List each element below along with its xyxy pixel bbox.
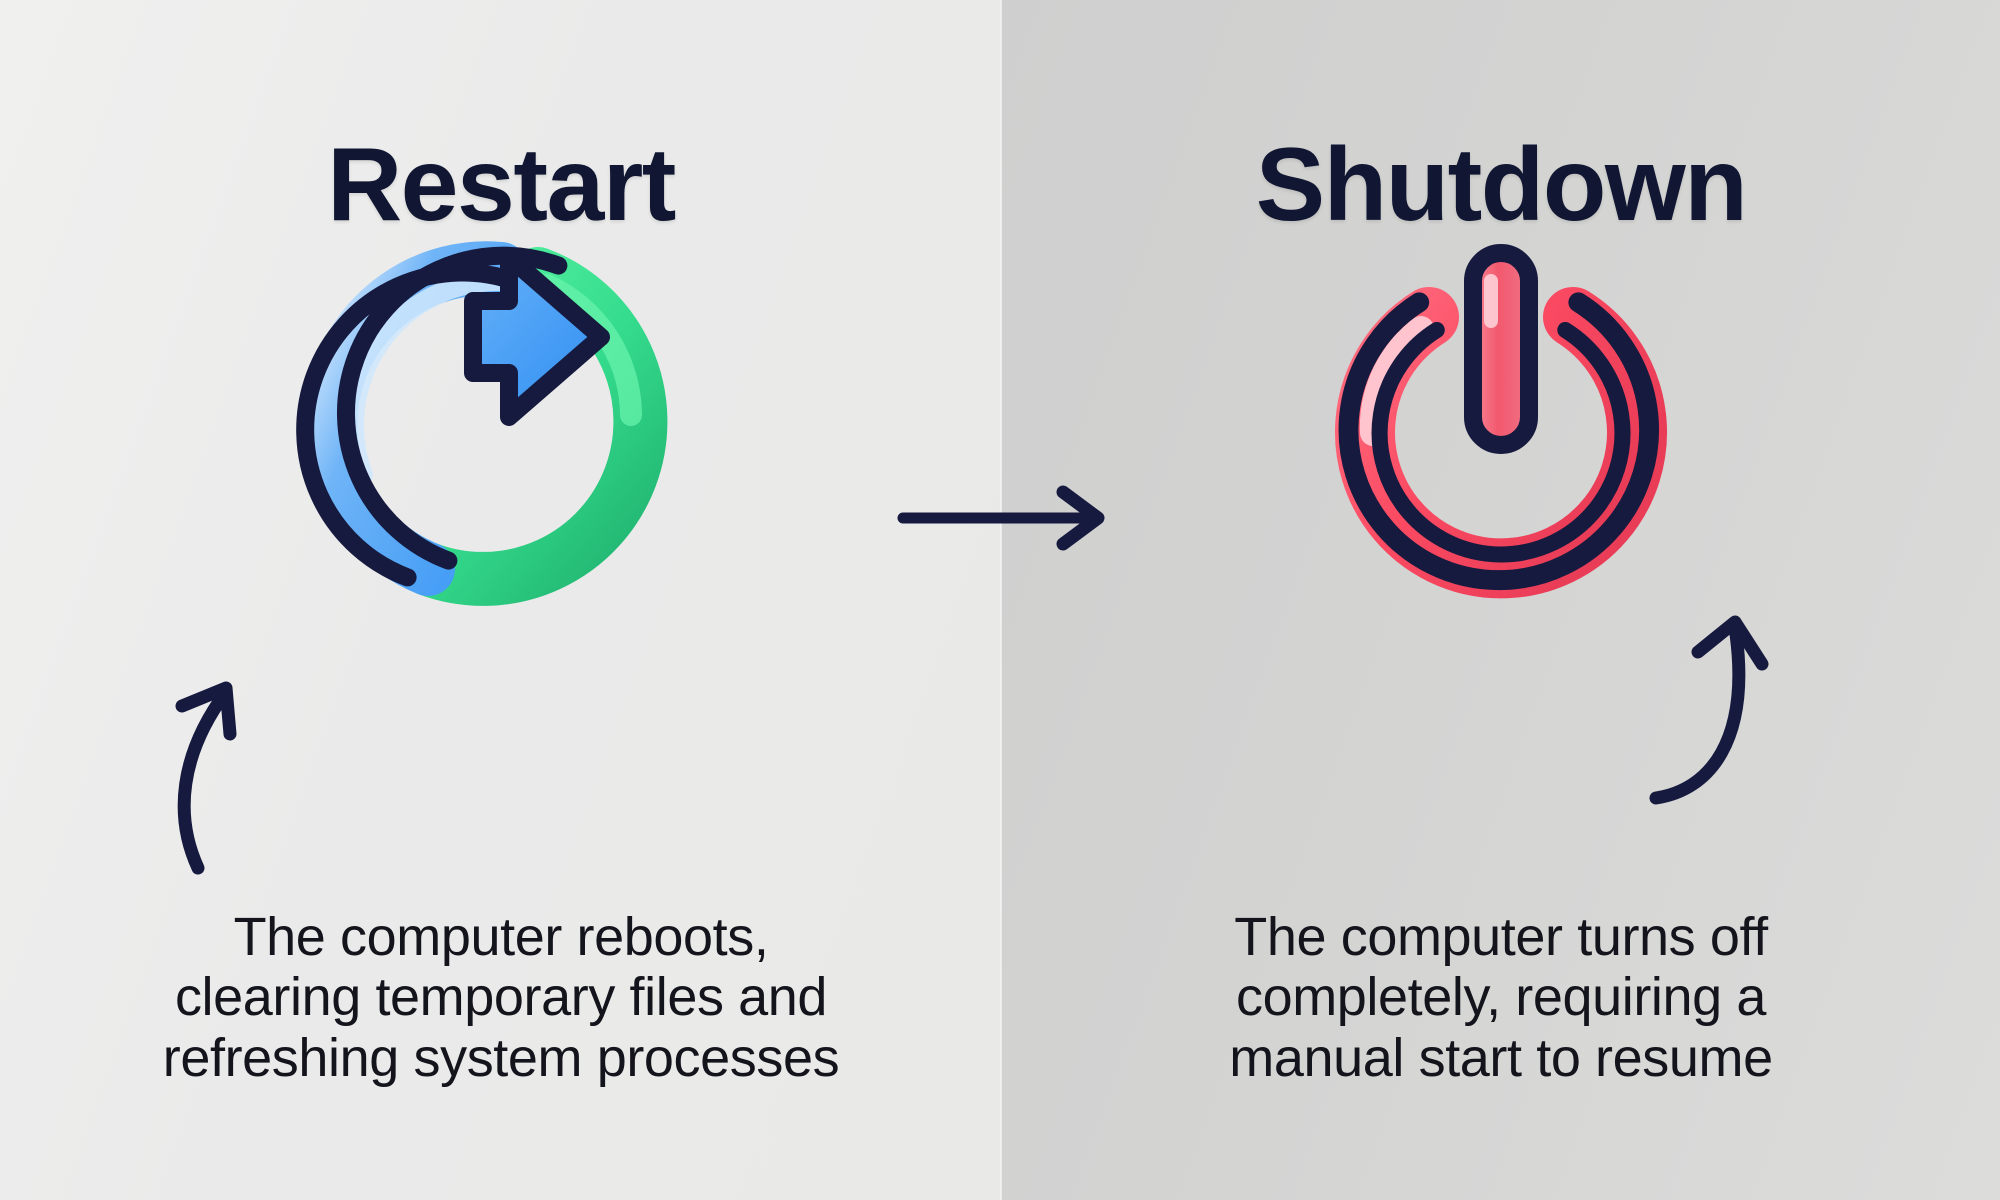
caption-restart: The computer reboots, clearing temporary… — [0, 907, 1002, 1088]
caption-line: clearing temporary files and — [40, 967, 962, 1027]
comparison-infographic: Restart — [0, 0, 2000, 1200]
caption-line: refreshing system processes — [40, 1028, 962, 1088]
restart-circular-arrow-icon — [301, 225, 701, 625]
shutdown-icon-stage — [1002, 210, 2000, 640]
panel-restart: Restart — [0, 0, 1002, 1200]
caption-line: manual start to resume — [1042, 1028, 1960, 1088]
curved-up-arrow-icon-shutdown — [1640, 590, 1830, 840]
panel-shutdown: Shutdown — [1002, 0, 2000, 1200]
caption-line: The computer reboots, — [40, 907, 962, 967]
caption-line: completely, requiring a — [1042, 967, 1960, 1027]
restart-icon-stage — [0, 210, 1002, 640]
curved-up-arrow-icon-restart — [168, 630, 358, 880]
caption-line: The computer turns off — [1042, 907, 1960, 967]
power-bar — [1473, 253, 1529, 445]
power-button-icon — [1301, 225, 1701, 625]
caption-shutdown: The computer turns off completely, requi… — [1002, 907, 2000, 1088]
